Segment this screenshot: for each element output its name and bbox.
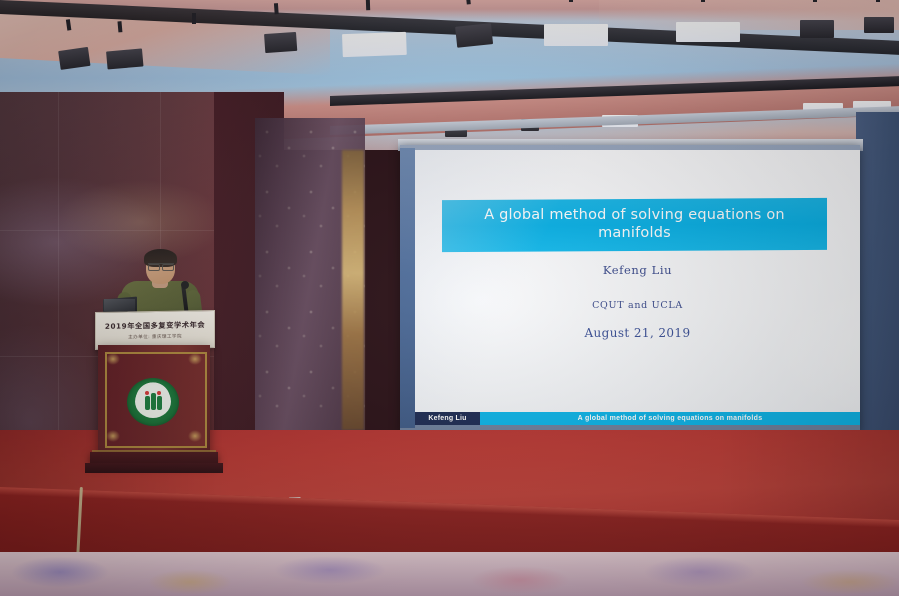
stage-light-icon [261, 11, 300, 55]
emblem-dot [145, 391, 149, 395]
podium-banner-subtitle: 主办单位: 重庆理工学院 [128, 333, 182, 340]
stage-light-icon [862, 0, 896, 34]
stage-light-icon [102, 28, 145, 71]
wall-seam [0, 230, 250, 231]
hall-carpet [0, 552, 899, 596]
slide-date: August 21, 2019 [415, 326, 860, 340]
podium-corner-ornament [188, 430, 202, 442]
slide-title: A global method of solving equations on … [450, 206, 819, 242]
stage-light-icon [53, 26, 93, 72]
stage-light-icon [337, 7, 411, 59]
emblem-figure [157, 396, 162, 410]
presentation-slide: A global method of solving equations on … [415, 150, 860, 412]
slide-footer-bar: Kefeng Liu A global method of solving eq… [415, 412, 860, 425]
podium-corner-ornament [188, 353, 202, 365]
stage-light-icon [450, 0, 497, 50]
stage-light-icon [798, 0, 836, 40]
slide-author: Kefeng Liu [415, 263, 860, 277]
glasses-icon [148, 263, 174, 270]
podium-banner-title: 2019年全国多复变学术年会 [105, 320, 205, 332]
conference-hall-photo: A global method of solving equations on … [0, 0, 899, 596]
stage-light-icon [672, 0, 744, 44]
wall-right-glow [856, 112, 899, 452]
footer-author: Kefeng Liu [415, 412, 480, 425]
stage-light-icon [178, 22, 214, 64]
emblem-dot [157, 391, 161, 395]
laptop-screen [104, 299, 135, 311]
emblem-figure [145, 396, 150, 410]
podium-base-lower [85, 463, 223, 473]
podium-corner-ornament [106, 353, 120, 365]
podium-corner-ornament [106, 430, 120, 442]
slide-title-band: A global method of solving equations on … [442, 198, 827, 253]
projection-screen-left-band [400, 148, 415, 428]
emblem-figure [151, 393, 156, 410]
ceiling-pink-panel-right [599, 0, 899, 30]
slide-affiliation: CQUT and UCLA [415, 300, 860, 311]
microphone-head [181, 281, 189, 289]
stage-light-icon [540, 0, 612, 48]
footer-title: A global method of solving equations on … [480, 412, 860, 425]
gold-decor-strip [342, 150, 364, 430]
